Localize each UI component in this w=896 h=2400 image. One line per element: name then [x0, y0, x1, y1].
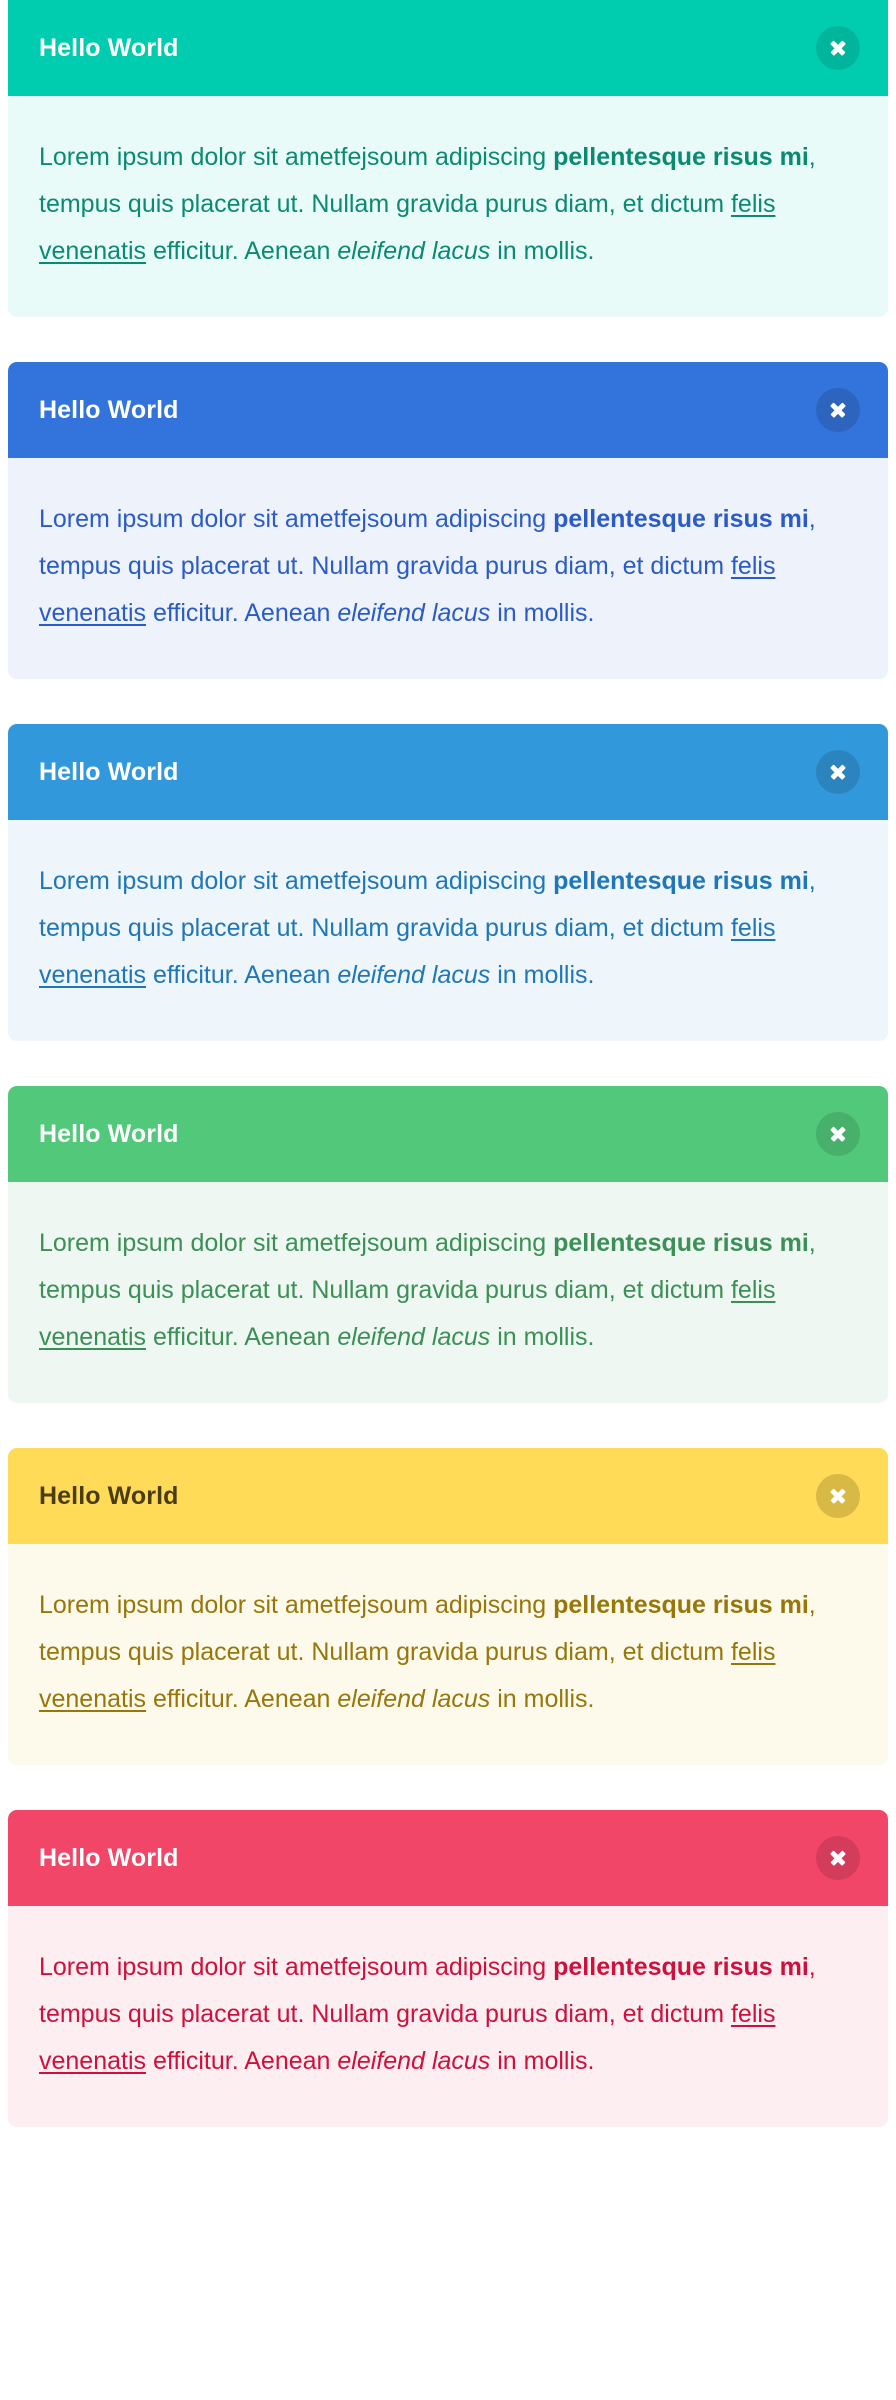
alert-text-after-link: efficitur. Aenean	[146, 961, 337, 989]
alert-title: Hello World	[39, 760, 179, 785]
alert-text: Lorem ipsum dolor sit ametfejsoum adipis…	[39, 1220, 854, 1361]
alert-text-after-link: efficitur. Aenean	[146, 1685, 337, 1713]
close-button[interactable]	[816, 1836, 860, 1880]
close-button[interactable]	[816, 1474, 860, 1518]
alert-text-lead: Lorem ipsum dolor sit ametfejsoum adipis…	[39, 143, 553, 171]
close-icon	[816, 1112, 860, 1156]
alert-text: Lorem ipsum dolor sit ametfejsoum adipis…	[39, 496, 854, 637]
alert-text-italic: eleifend lacus	[337, 1685, 490, 1713]
close-icon	[816, 1474, 860, 1518]
alert-text-italic: eleifend lacus	[337, 237, 490, 265]
alert-text-lead: Lorem ipsum dolor sit ametfejsoum adipis…	[39, 1953, 553, 1981]
alert-body: Lorem ipsum dolor sit ametfejsoum adipis…	[8, 1544, 888, 1765]
close-button[interactable]	[816, 388, 860, 432]
alert-text: Lorem ipsum dolor sit ametfejsoum adipis…	[39, 134, 854, 275]
alert-card: Hello WorldLorem ipsum dolor sit ametfej…	[8, 1086, 888, 1403]
alert-stack: Hello WorldLorem ipsum dolor sit ametfej…	[0, 0, 896, 2172]
alert-title: Hello World	[39, 398, 179, 423]
alert-text-bold: pellentesque risus mi	[553, 505, 809, 533]
alert-body: Lorem ipsum dolor sit ametfejsoum adipis…	[8, 1906, 888, 2127]
alert-header: Hello World	[8, 1086, 888, 1182]
alert-text-after-link: efficitur. Aenean	[146, 599, 337, 627]
alert-body: Lorem ipsum dolor sit ametfejsoum adipis…	[8, 458, 888, 679]
alert-text-bold: pellentesque risus mi	[553, 1591, 809, 1619]
alert-text-italic: eleifend lacus	[337, 2047, 490, 2075]
close-button[interactable]	[816, 750, 860, 794]
alert-header: Hello World	[8, 1448, 888, 1544]
alert-text: Lorem ipsum dolor sit ametfejsoum adipis…	[39, 1582, 854, 1723]
alert-title: Hello World	[39, 1846, 179, 1871]
close-button[interactable]	[816, 1112, 860, 1156]
close-icon	[816, 1836, 860, 1880]
alert-text-lead: Lorem ipsum dolor sit ametfejsoum adipis…	[39, 1591, 553, 1619]
alert-text-lead: Lorem ipsum dolor sit ametfejsoum adipis…	[39, 867, 553, 895]
alert-header: Hello World	[8, 0, 888, 96]
alert-text-lead: Lorem ipsum dolor sit ametfejsoum adipis…	[39, 505, 553, 533]
alert-text-italic: eleifend lacus	[337, 1323, 490, 1351]
alert-text-italic: eleifend lacus	[337, 961, 490, 989]
alert-card: Hello WorldLorem ipsum dolor sit ametfej…	[8, 724, 888, 1041]
alert-title: Hello World	[39, 36, 179, 61]
alert-text: Lorem ipsum dolor sit ametfejsoum adipis…	[39, 858, 854, 999]
close-icon	[816, 26, 860, 70]
alert-title: Hello World	[39, 1484, 179, 1509]
alert-text-tail: in mollis.	[490, 1685, 594, 1713]
alert-card: Hello WorldLorem ipsum dolor sit ametfej…	[8, 1810, 888, 2127]
alert-text-bold: pellentesque risus mi	[553, 867, 809, 895]
alert-body: Lorem ipsum dolor sit ametfejsoum adipis…	[8, 96, 888, 317]
alert-text-tail: in mollis.	[490, 2047, 594, 2075]
alert-card: Hello WorldLorem ipsum dolor sit ametfej…	[8, 362, 888, 679]
alert-header: Hello World	[8, 1810, 888, 1906]
alert-text-bold: pellentesque risus mi	[553, 1229, 809, 1257]
alert-header: Hello World	[8, 724, 888, 820]
alert-body: Lorem ipsum dolor sit ametfejsoum adipis…	[8, 1182, 888, 1403]
alert-text-lead: Lorem ipsum dolor sit ametfejsoum adipis…	[39, 1229, 553, 1257]
alert-text-italic: eleifend lacus	[337, 599, 490, 627]
alert-text-bold: pellentesque risus mi	[553, 1953, 809, 1981]
alert-text-tail: in mollis.	[490, 1323, 594, 1351]
alert-text-after-link: efficitur. Aenean	[146, 1323, 337, 1351]
alert-card: Hello WorldLorem ipsum dolor sit ametfej…	[8, 1448, 888, 1765]
alert-text: Lorem ipsum dolor sit ametfejsoum adipis…	[39, 1944, 854, 2085]
alert-text-tail: in mollis.	[490, 237, 594, 265]
alert-body: Lorem ipsum dolor sit ametfejsoum adipis…	[8, 820, 888, 1041]
alert-title: Hello World	[39, 1122, 179, 1147]
alert-text-tail: in mollis.	[490, 961, 594, 989]
alert-text-after-link: efficitur. Aenean	[146, 2047, 337, 2075]
alert-text-bold: pellentesque risus mi	[553, 143, 809, 171]
alert-text-after-link: efficitur. Aenean	[146, 237, 337, 265]
alert-header: Hello World	[8, 362, 888, 458]
alert-card: Hello WorldLorem ipsum dolor sit ametfej…	[8, 0, 888, 317]
alert-text-tail: in mollis.	[490, 599, 594, 627]
close-icon	[816, 388, 860, 432]
close-icon	[816, 750, 860, 794]
close-button[interactable]	[816, 26, 860, 70]
